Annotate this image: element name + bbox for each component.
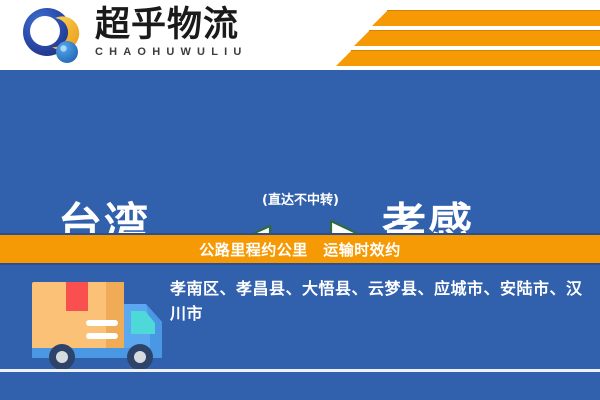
delivery-truck-icon [28,278,168,372]
route-panel: 台湾 (直达不中转) 【往返运输】 孝感 [0,73,600,230]
brand-name-cn: 超乎物流 [95,6,325,44]
info-band: 公路里程约公里 运输时效约 [0,233,600,265]
brand-logo-icon [22,7,80,65]
banner-header: 超乎物流 CHAOHUWULIU [0,0,600,70]
decorative-stripes [325,0,600,70]
coverage-areas-text: 孝南区、孝昌县、大悟县、云梦县、应城市、安陆市、汉川市 [170,276,585,326]
brand-name-en: CHAOHUWULIU [95,46,325,59]
info-band-text: 公路里程约公里 运输时效约 [199,239,401,260]
logistics-banner: 超乎物流 CHAOHUWULIU 台湾 (直达不中转) [0,0,600,400]
direct-route-note: (直达不中转) [228,189,373,208]
brand-text: 超乎物流 CHAOHUWULIU [95,6,325,66]
bottom-divider [0,369,600,372]
